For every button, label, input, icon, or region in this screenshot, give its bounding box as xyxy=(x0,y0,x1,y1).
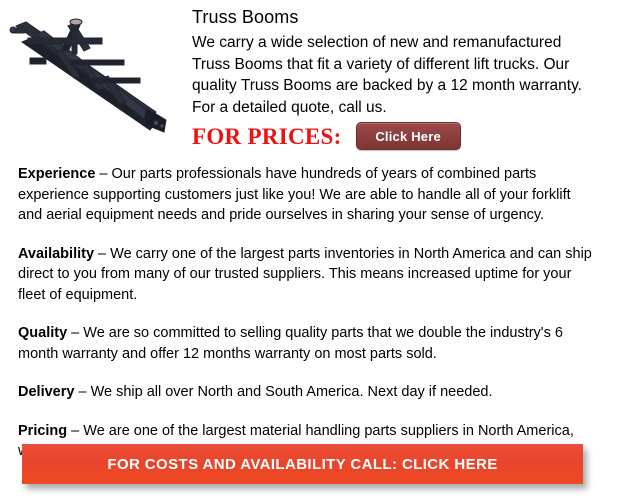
feature-separator: – xyxy=(74,384,90,400)
feature-paragraph: Experience – Our parts professionals hav… xyxy=(18,164,598,226)
feature-term: Experience xyxy=(18,166,95,182)
product-intro-text: We carry a wide selection of new and rem… xyxy=(192,32,596,118)
product-header-block: Truss Booms We carry a wide selection of… xyxy=(0,0,619,160)
truss-boom-image xyxy=(6,4,178,138)
for-prices-label: FOR PRICES: xyxy=(192,125,342,148)
feature-separator: – xyxy=(67,325,83,341)
feature-term: Availability xyxy=(18,246,94,262)
features-list: Experience – Our parts professionals hav… xyxy=(18,164,598,480)
feature-separator: – xyxy=(94,246,110,262)
for-prices-row: FOR PRICES: Click Here xyxy=(192,122,461,150)
feature-text: We are so committed to selling quality p… xyxy=(18,325,563,362)
feature-text: We ship all over North and South America… xyxy=(91,384,493,400)
click-here-button[interactable]: Click Here xyxy=(356,122,461,150)
page-title: Truss Booms xyxy=(192,6,298,28)
feature-separator: – xyxy=(95,166,111,182)
cta-call-button[interactable]: FOR COSTS AND AVAILABILITY CALL: CLICK H… xyxy=(22,444,583,484)
feature-separator: – xyxy=(67,423,83,439)
feature-paragraph: Delivery – We ship all over North and So… xyxy=(18,382,598,403)
feature-paragraph: Availability – We carry one of the large… xyxy=(18,244,598,306)
feature-term: Pricing xyxy=(18,423,67,439)
feature-term: Delivery xyxy=(18,384,74,400)
feature-term: Quality xyxy=(18,325,67,341)
feature-paragraph: Quality – We are so committed to selling… xyxy=(18,323,598,364)
